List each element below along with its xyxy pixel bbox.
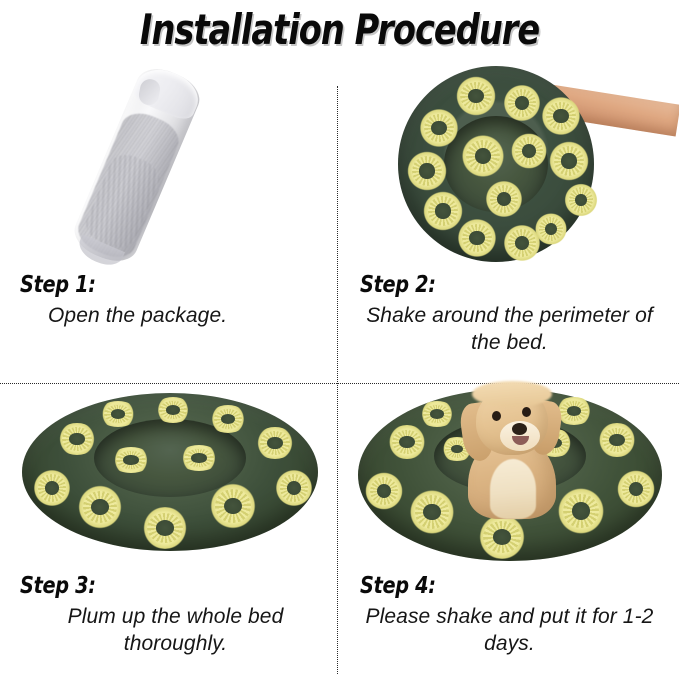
- dog-nose: [512, 423, 527, 435]
- step-1-label: Step 1:: [20, 272, 288, 298]
- flower-icon: [32, 469, 72, 507]
- step-2-illustration: [340, 62, 679, 267]
- flower-icon: [140, 507, 190, 549]
- flower-icon: [564, 182, 598, 218]
- step-3-text: Plum up the whole bed thoroughly.: [0, 599, 339, 657]
- flower-icon: [208, 483, 258, 529]
- step-card-1: Step 1: Open the package.: [0, 62, 339, 368]
- step-3-caption: Step 3: Plum up the whole bed thoroughly…: [0, 573, 339, 657]
- flower-icon: [456, 218, 498, 258]
- flower-icon: [460, 134, 506, 178]
- flower-icon: [408, 489, 456, 535]
- step-4-label: Step 4:: [360, 573, 628, 599]
- flower-icon: [548, 140, 590, 182]
- flower-icon: [616, 469, 656, 509]
- flower-icon: [510, 132, 548, 170]
- flower-icon: [254, 427, 296, 459]
- dog-chest: [490, 459, 536, 519]
- flower-icon: [406, 150, 448, 192]
- flower-icon: [484, 180, 524, 218]
- dog-icon: [450, 381, 572, 519]
- page-title: Installation Procedure: [140, 0, 539, 56]
- flower-icon: [502, 84, 542, 122]
- dog-head-fluff: [472, 381, 552, 407]
- step-2-label: Step 2:: [360, 272, 628, 298]
- flower-icon: [534, 212, 568, 246]
- step-card-2: Step 2: Shake around the perimeter of th…: [340, 62, 679, 368]
- pet-bed-with-dog: [358, 389, 662, 561]
- flower-icon: [386, 425, 428, 459]
- dog-eye-left: [492, 411, 501, 421]
- step-1-caption: Step 1: Open the package.: [0, 272, 339, 329]
- pet-bed-top-view: [398, 66, 594, 262]
- flower-icon: [274, 469, 314, 507]
- step-1-illustration: [0, 62, 339, 267]
- package-icon: [68, 62, 206, 267]
- step-3-illustration: [0, 371, 339, 569]
- title-bar: Installation Procedure: [0, 0, 679, 62]
- steps-grid: Step 1: Open the package.: [0, 62, 679, 674]
- step-4-text: Please shake and put it for 1-2 days.: [340, 599, 679, 657]
- flower-icon: [208, 405, 248, 433]
- flower-icon: [476, 515, 528, 559]
- flower-icon: [178, 445, 220, 471]
- step-2-caption: Step 2: Shake around the perimeter of th…: [340, 272, 679, 356]
- pet-bed-angled-view: [22, 393, 318, 551]
- step-card-3: Step 3: Plum up the whole bed thoroughly…: [0, 371, 339, 677]
- step-card-4: Step 4: Please shake and put it for 1-2 …: [340, 371, 679, 677]
- dog-eye-right: [522, 407, 531, 417]
- flower-icon: [110, 447, 152, 473]
- flower-icon: [56, 423, 98, 455]
- flower-icon: [418, 108, 460, 148]
- flower-icon: [596, 423, 638, 457]
- flower-icon: [540, 96, 582, 136]
- flower-icon: [76, 485, 124, 529]
- flower-icon: [422, 190, 464, 232]
- step-2-text: Shake around the perimeter of the bed.: [340, 298, 679, 356]
- flower-icon: [154, 397, 192, 423]
- step-4-caption: Step 4: Please shake and put it for 1-2 …: [340, 573, 679, 657]
- step-1-text: Open the package.: [0, 298, 339, 329]
- flower-icon: [454, 76, 498, 116]
- flower-icon: [98, 401, 138, 427]
- flower-icon: [364, 471, 404, 511]
- step-4-illustration: [340, 371, 679, 569]
- step-3-label: Step 3:: [20, 573, 288, 599]
